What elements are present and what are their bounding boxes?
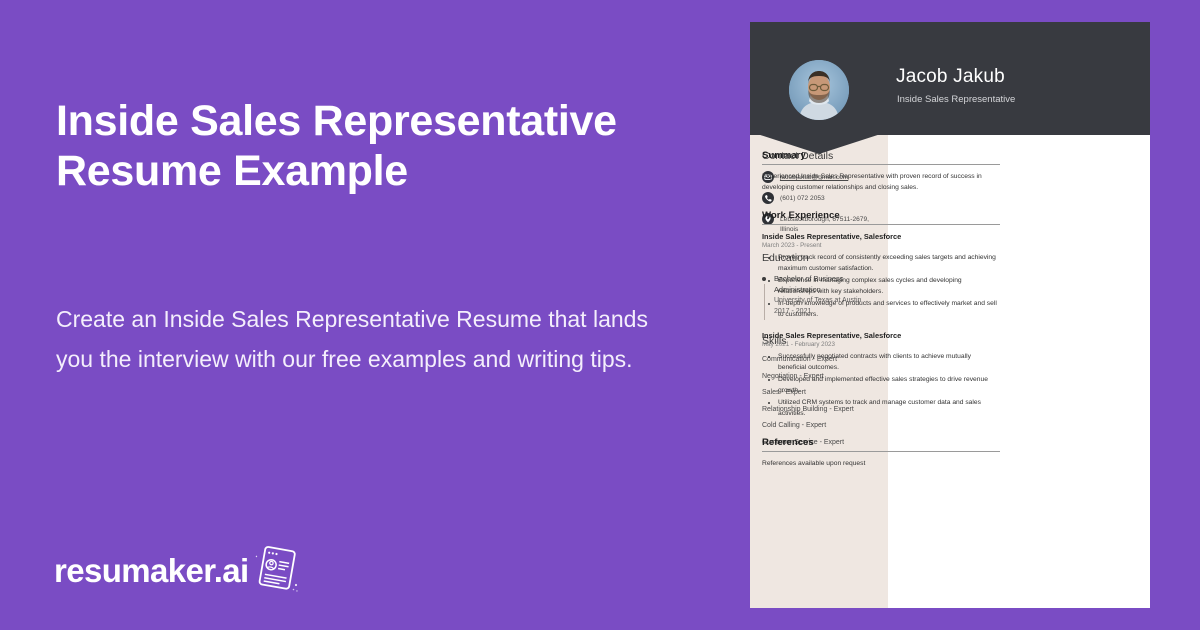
page-subtitle: Create an Inside Sales Representative Re… (56, 300, 656, 379)
promo-panel: Inside Sales Representative Resume Examp… (0, 0, 740, 630)
resume-preview-card[interactable]: Jacob Jakub Inside Sales Representative … (750, 22, 1150, 608)
resumaker-logo[interactable]: resumaker.ai (54, 545, 300, 595)
job-bullet: In-depth knowledge of products and servi… (778, 299, 1000, 321)
section-divider (762, 224, 1000, 225)
job-dates: May 2021 - February 2023 (762, 341, 1000, 348)
section-divider (762, 451, 1000, 452)
job-title: Inside Sales Representative, Salesforce (762, 232, 1000, 241)
promo-poster: Inside Sales Representative Resume Examp… (0, 0, 1200, 630)
references-text: References available upon request (762, 459, 1000, 470)
job-title: Inside Sales Representative, Salesforce (762, 331, 1000, 340)
summary-text: Experienced Inside Sales Representative … (762, 172, 1000, 194)
spacer (762, 430, 1000, 437)
section-divider (762, 164, 1000, 165)
job-bullet: Utilized CRM systems to track and manage… (778, 398, 1000, 420)
job-bullet-list: Successfully negotiated contracts with c… (762, 352, 1000, 420)
job-bullet: Proven track record of consistently exce… (778, 253, 1000, 275)
resume-name: Jacob Jakub (896, 66, 1005, 88)
work-experience-heading: Work Experience (762, 210, 1000, 221)
summary-heading: Summary (762, 150, 1000, 161)
page-title: Inside Sales Representative Resume Examp… (56, 96, 656, 197)
avatar (789, 60, 849, 120)
logo-wordmark: resumaker.ai (54, 554, 249, 587)
references-heading: References (762, 437, 1000, 448)
resume-main-content: Summary Experienced Inside Sales Represe… (762, 150, 1000, 486)
job-bullet: Experience in managing complex sales cyc… (778, 276, 1000, 298)
job-dates: March 2023 - Present (762, 242, 1000, 249)
job-entry: Inside Sales Representative, Salesforce … (762, 232, 1000, 321)
resume-document-icon (252, 545, 300, 595)
job-entry: Inside Sales Representative, Salesforce … (762, 331, 1000, 420)
job-bullet-list: Proven track record of consistently exce… (762, 253, 1000, 321)
job-bullet: Successfully negotiated contracts with c… (778, 352, 1000, 374)
resume-role: Inside Sales Representative (897, 94, 1015, 105)
job-bullet: Developed and implemented effective sale… (778, 375, 1000, 397)
